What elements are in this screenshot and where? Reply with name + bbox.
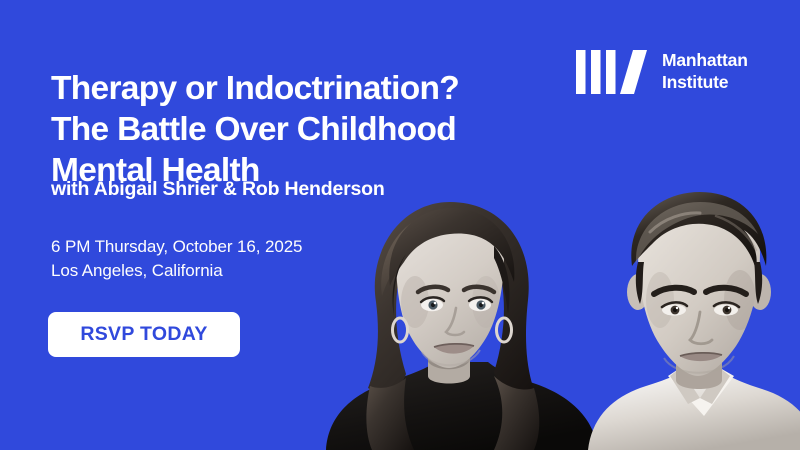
event-promo-banner: Manhattan Institute Therapy or Indoctrin… (0, 0, 800, 450)
portrait-rob-henderson (588, 182, 800, 450)
portrait-abigail-shrier (318, 190, 606, 450)
rsvp-today-button[interactable]: RSVP TODAY (48, 312, 240, 357)
event-title-line-1: Therapy or Indoctrination? (51, 68, 571, 109)
event-title: Therapy or Indoctrination? The Battle Ov… (51, 68, 571, 191)
event-datetime: 6 PM Thursday, October 16, 2025 (51, 235, 302, 259)
event-location: Los Angeles, California (51, 259, 302, 283)
manhattan-institute-logo: Manhattan Institute (576, 50, 748, 94)
logo-wordmark-line2: Institute (662, 72, 748, 94)
event-speakers: with Abigail Shrier & Rob Henderson (51, 178, 385, 201)
event-title-line-2: The Battle Over Childhood (51, 109, 571, 150)
logo-wordmark-line1: Manhattan (662, 50, 748, 72)
event-details: 6 PM Thursday, October 16, 2025 Los Ange… (51, 235, 302, 283)
manhattan-institute-bars-mark (576, 50, 648, 94)
logo-wordmark: Manhattan Institute (662, 50, 748, 93)
